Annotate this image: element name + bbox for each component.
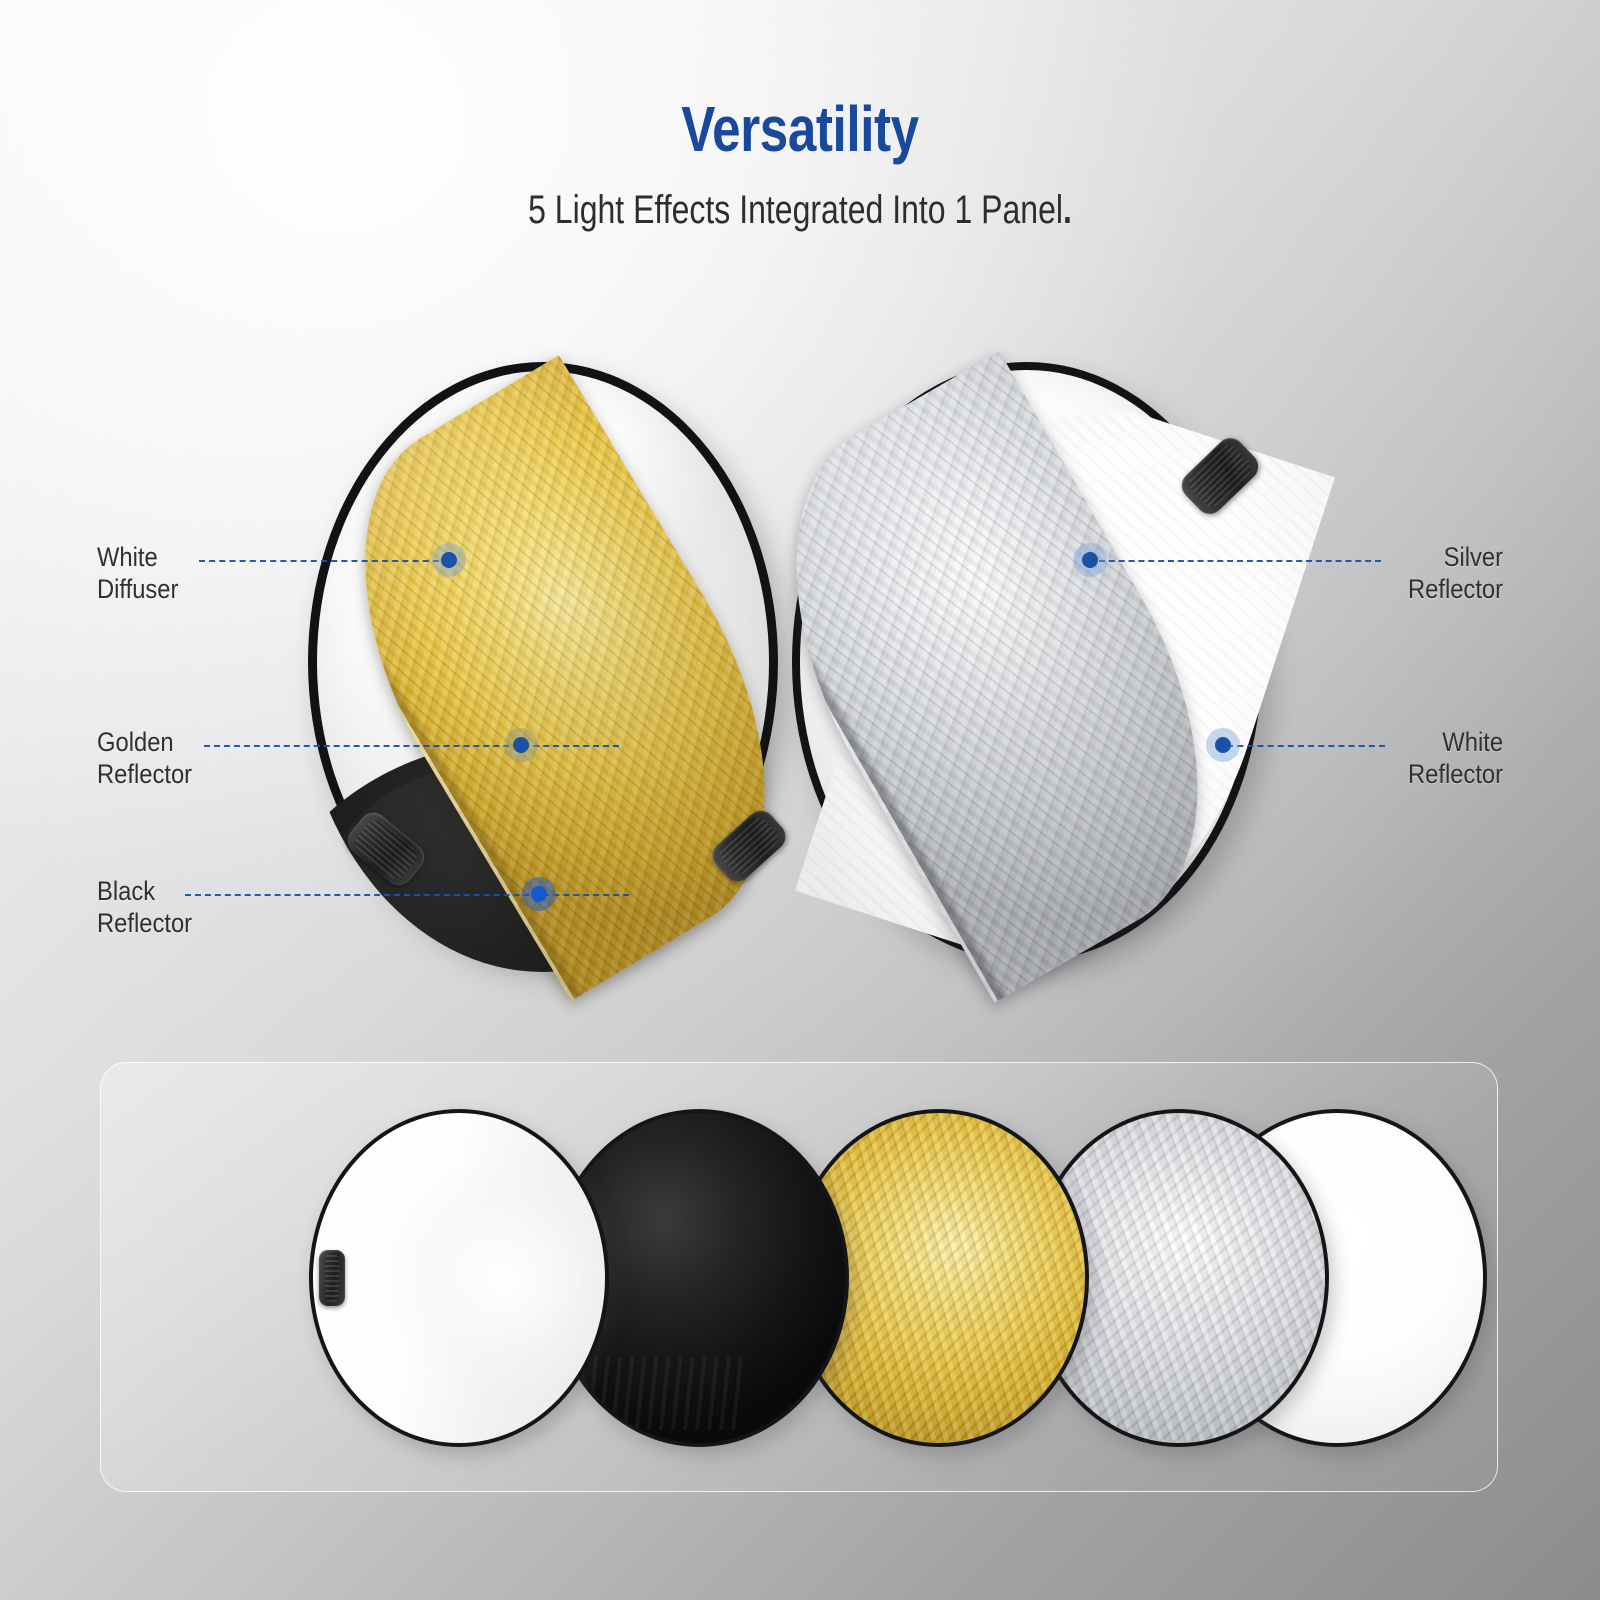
subtitle-period: .	[1063, 188, 1072, 232]
handle-grip-icon	[319, 1250, 345, 1306]
pin-core	[441, 552, 457, 568]
callout-white-reflector-label: WhiteReflector	[1408, 727, 1503, 790]
callout-black-reflector-label: BlackReflector	[97, 876, 192, 939]
leader-line	[185, 894, 629, 896]
pin-black-reflector[interactable]	[522, 877, 556, 911]
showcase-panel	[100, 1062, 1498, 1492]
pin-core	[513, 737, 529, 753]
callout-golden-reflector-label: GoldenReflector	[97, 727, 192, 790]
pin-white-diffuser[interactable]	[432, 543, 466, 577]
pin-core	[1082, 552, 1098, 568]
pin-golden-reflector[interactable]	[504, 728, 538, 762]
header: Versatility 5 Light Effects Integrated I…	[0, 0, 1600, 233]
page-subtitle: 5 Light Effects Integrated Into 1 Panel.	[160, 188, 1440, 233]
callout-white-diffuser-label: WhiteDiffuser	[97, 542, 178, 605]
subtitle-text: 5 Light Effects Integrated Into 1 Panel	[528, 188, 1063, 232]
pin-white-reflector[interactable]	[1206, 728, 1240, 762]
pin-core	[1215, 737, 1231, 753]
pin-silver-reflector[interactable]	[1073, 543, 1107, 577]
leader-line	[199, 560, 449, 562]
pin-core	[531, 886, 547, 902]
leader-line	[204, 745, 619, 747]
leader-line	[1217, 745, 1385, 747]
leader-line	[1099, 560, 1381, 562]
callout-silver-reflector-label: SilverReflector	[1408, 542, 1503, 605]
showcase-disc-white-diffuser	[309, 1109, 609, 1447]
page-title: Versatility	[160, 92, 1440, 166]
